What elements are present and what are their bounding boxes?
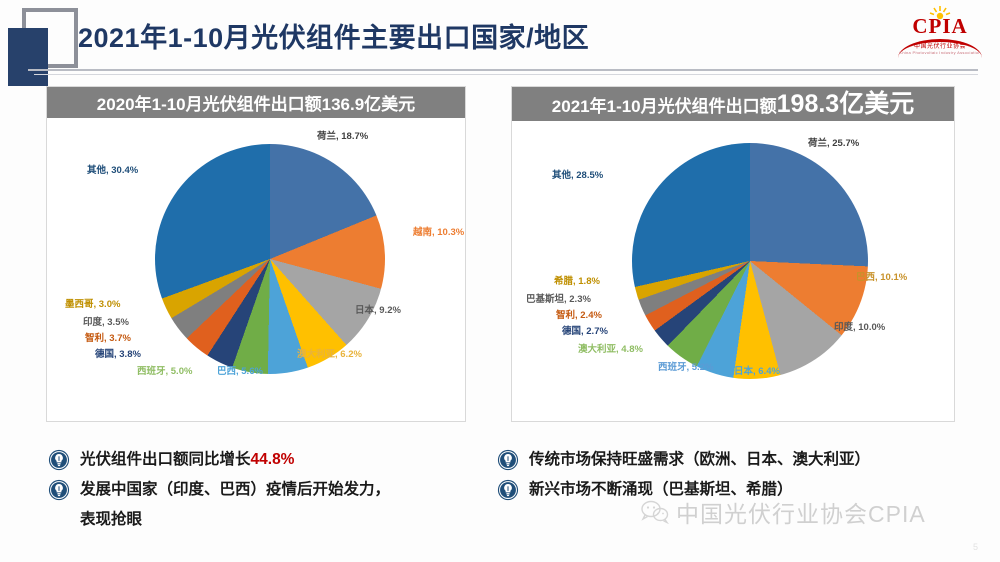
pie-label-智利: 智利, 3.7%	[85, 330, 131, 344]
pie-label-巴西: 巴西, 10.1%	[856, 269, 907, 283]
pie-chart-2020	[155, 144, 385, 374]
chart-panel-2021: 2021年1-10月光伏组件出口额198.3亿美元 荷兰, 25.7%巴西, 1…	[511, 86, 955, 422]
pie-label-其他: 其他, 28.5%	[552, 167, 603, 181]
pie-chart-2021	[632, 143, 868, 379]
lightbulb-badge-icon	[497, 449, 519, 471]
sun-icon	[927, 6, 953, 20]
insight-text-prefix: 传统市场保持旺盛需求（欧洲、日本、澳大利亚）	[529, 451, 870, 468]
decor-square-filled	[8, 28, 48, 86]
chart-body-2021: 荷兰, 25.7%巴西, 10.1%印度, 10.0%日本, 6.4%西班牙, …	[512, 121, 954, 419]
insight-text: 光伏组件出口额同比增长44.8%	[80, 448, 294, 472]
pie-label-荷兰: 荷兰, 25.7%	[808, 135, 859, 149]
insight-text-prefix: 发展中国家（印度、巴西）疫情后开始发力，	[80, 481, 390, 498]
pie-label-澳大利亚: 澳大利亚, 6.2%	[297, 346, 362, 360]
cpia-logo-cn: 中国光伏行业协会	[892, 41, 988, 50]
insight-item: 传统市场保持旺盛需求（欧洲、日本、澳大利亚）	[497, 448, 957, 472]
insights-list-left: 光伏组件出口额同比增长44.8% 发展中国家（印度、巴西）疫情后开始发力，表现抢…	[48, 448, 478, 538]
pie-label-印度: 印度, 3.5%	[83, 314, 129, 328]
pie-label-西班牙: 西班牙, 5.0%	[137, 363, 192, 377]
slide-header: 2021年1-10月光伏组件主要出口国家/地区 CPIA 中国光伏行业协会 Ch…	[0, 0, 1000, 78]
insight-item: 光伏组件出口额同比增长44.8%	[48, 448, 478, 472]
pie-label-巴基斯坦: 巴基斯坦, 2.3%	[526, 291, 591, 305]
insight-text: 表现抢眼	[80, 508, 142, 532]
insight-text: 发展中国家（印度、巴西）疫情后开始发力，	[80, 478, 390, 502]
insight-item: 表现抢眼	[48, 508, 478, 532]
insight-item: 发展中国家（印度、巴西）疫情后开始发力，	[48, 478, 478, 502]
pie-label-巴西: 巴西, 5.6%	[217, 363, 263, 377]
cpia-logo-en: China Photovoltaic Industry Association	[892, 50, 988, 55]
page-title: 2021年1-10月光伏组件主要出口国家/地区	[78, 16, 589, 55]
cpia-logo: CPIA 中国光伏行业协会 China Photovoltaic Industr…	[892, 4, 988, 60]
chart-title-2021-prefix: 2021年1-10月光伏组件出口额	[552, 92, 777, 117]
pie-label-越南: 越南, 10.3%	[413, 224, 464, 238]
chart-title-2020: 2020年1-10月光伏组件出口额136.9亿美元	[47, 87, 465, 118]
lightbulb-badge-icon	[497, 479, 519, 501]
bullet-spacer	[48, 509, 70, 531]
pie-label-德国: 德国, 3.8%	[95, 346, 141, 360]
pie-label-智利: 智利, 2.4%	[556, 307, 602, 321]
pie-label-荷兰: 荷兰, 18.7%	[317, 128, 368, 142]
pie-label-日本: 日本, 9.2%	[355, 302, 401, 316]
pie-label-西班牙: 西班牙, 5.2%	[658, 359, 713, 373]
pie-label-澳大利亚: 澳大利亚, 4.8%	[578, 341, 643, 355]
slide-root: 2021年1-10月光伏组件主要出口国家/地区 CPIA 中国光伏行业协会 Ch…	[0, 0, 1000, 562]
insight-text-prefix: 表现抢眼	[80, 511, 142, 528]
chart-title-2020-text: 2020年1-10月光伏组件出口额136.9亿美元	[97, 90, 415, 115]
lightbulb-badge-icon	[48, 479, 70, 501]
page-number: 5	[973, 542, 978, 552]
insight-text: 传统市场保持旺盛需求（欧洲、日本、澳大利亚）	[529, 448, 870, 472]
insight-highlight: 44.8%	[251, 451, 295, 468]
watermark-text: 中国光伏行业协会CPIA	[676, 495, 926, 529]
pie-slices-2021	[632, 143, 868, 379]
chart-title-2021: 2021年1-10月光伏组件出口额198.3亿美元	[512, 87, 954, 121]
watermark: 中国光伏行业协会CPIA	[640, 495, 926, 529]
chart-title-2021-amount: 198.3亿美元	[777, 92, 915, 117]
lightbulb-badge-icon	[48, 449, 70, 471]
chart-body-2020: 荷兰, 18.7%越南, 10.3%日本, 9.2%澳大利亚, 6.2%巴西, …	[47, 118, 465, 419]
pie-slices-2020	[155, 144, 385, 374]
insight-text-prefix: 光伏组件出口额同比增长	[80, 451, 251, 468]
pie-label-其他: 其他, 30.4%	[87, 162, 138, 176]
pie-label-日本: 日本, 6.4%	[734, 363, 780, 377]
wechat-icon	[640, 500, 670, 524]
chart-panel-2020: 2020年1-10月光伏组件出口额136.9亿美元 荷兰, 18.7%越南, 1…	[46, 86, 466, 422]
header-divider	[28, 69, 978, 71]
header-divider-secondary	[34, 74, 978, 75]
pie-label-希腊: 希腊, 1.8%	[554, 273, 600, 287]
pie-label-印度: 印度, 10.0%	[834, 319, 885, 333]
pie-label-墨西哥: 墨西哥, 3.0%	[65, 296, 120, 310]
pie-label-德国: 德国, 2.7%	[562, 323, 608, 337]
